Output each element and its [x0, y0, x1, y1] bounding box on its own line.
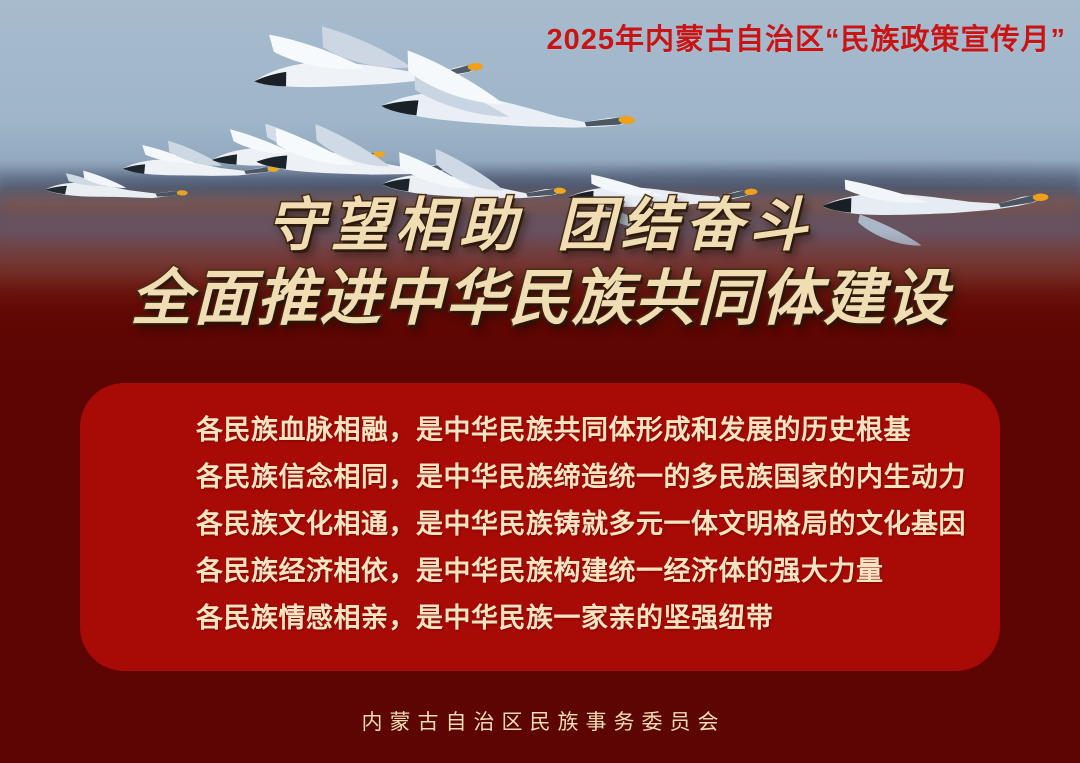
swan-icon [559, 152, 759, 238]
slogan-line: 各民族文化相通，是中华民族铸就多元一体文明格局的文化基因 [196, 501, 960, 548]
poster-root: 2025年内蒙古自治区“民族政策宣传月” 守望相助团结奋斗 全面推进中华民族共同… [0, 0, 1080, 763]
slogan-line: 各民族血脉相融，是中华民族共同体形成和发展的历史根基 [196, 407, 960, 454]
slogan-list: 各民族血脉相融，是中华民族共同体形成和发展的历史根基 各民族信念相同，是中华民族… [196, 407, 960, 647]
slogan-line: 各民族信念相同，是中华民族缔造统一的多民族国家的内生动力 [196, 454, 960, 501]
swan-icon [374, 139, 567, 221]
slogan-panel: 各民族血脉相融，是中华民族共同体形成和发展的历史根基 各民族信念相同，是中华民族… [80, 383, 1000, 671]
campaign-header-title: 2025年内蒙古自治区“民族政策宣传月” [546, 16, 1066, 58]
issuer-footer: 内蒙古自治区民族事务委员会 [0, 706, 1080, 736]
slogan-line: 各民族情感相亲，是中华民族一家亲的坚强纽带 [196, 595, 960, 642]
photo-fade-overlay [0, 230, 1080, 360]
slogan-line: 各民族经济相依，是中华民族构建统一经济体的强大力量 [196, 548, 960, 595]
